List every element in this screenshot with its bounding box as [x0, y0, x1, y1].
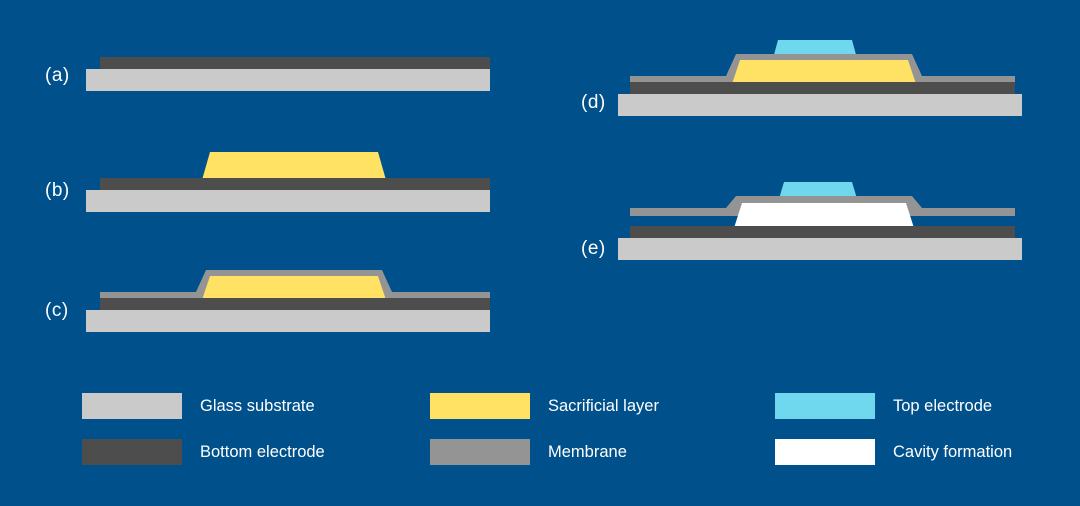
panel-label-c: (c): [45, 300, 69, 322]
panel-c-bottom-electrode: [100, 298, 490, 310]
panel-b-sacrificial-layer: [202, 152, 386, 180]
panel-label-a: (a): [45, 65, 70, 87]
cavity-formation-swatch: [775, 439, 875, 465]
legend-label-sacrificial-layer: Sacrificial layer: [548, 397, 659, 416]
membrane-swatch: [430, 439, 530, 465]
legend-label-bottom-electrode: Bottom electrode: [200, 443, 325, 462]
panel-c-glass-substrate: [86, 310, 490, 332]
legend-label-membrane: Membrane: [548, 443, 627, 462]
legend-item-bottom-electrode: Bottom electrode: [82, 439, 325, 465]
panel-b-glass-substrate: [86, 190, 490, 212]
panel-b-bottom-electrode: [100, 178, 490, 190]
legend-label-glass-substrate: Glass substrate: [200, 397, 315, 416]
panel-a-bottom-electrode: [100, 57, 490, 69]
legend-label-top-electrode: Top electrode: [893, 397, 992, 416]
panel-a: [86, 57, 490, 91]
bottom-electrode-swatch: [82, 439, 182, 465]
fabrication-process-diagram: [0, 0, 1080, 506]
panel-d-bottom-electrode: [630, 82, 1015, 94]
top-electrode-swatch: [775, 393, 875, 419]
panel-e-glass-substrate: [618, 238, 1022, 260]
legend-item-sacrificial-layer: Sacrificial layer: [430, 393, 659, 419]
panel-d-sacrificial-layer: [732, 60, 916, 84]
panel-label-b: (b): [45, 180, 70, 202]
panel-a-glass-substrate: [86, 69, 490, 91]
legend-item-glass-substrate: Glass substrate: [82, 393, 315, 419]
legend-item-cavity-formation: Cavity formation: [775, 439, 1012, 465]
legend-item-top-electrode: Top electrode: [775, 393, 992, 419]
glass-substrate-swatch: [82, 393, 182, 419]
sacrificial-layer-swatch: [430, 393, 530, 419]
panel-e-cavity-formation: [734, 203, 914, 228]
panel-label-d: (d): [581, 92, 606, 114]
panel-d-glass-substrate: [618, 94, 1022, 116]
panel-c-sacrificial-layer: [202, 276, 386, 300]
panel-e-bottom-electrode: [630, 226, 1015, 238]
panel-label-e: (e): [581, 238, 606, 260]
legend-item-membrane: Membrane: [430, 439, 627, 465]
legend-label-cavity-formation: Cavity formation: [893, 443, 1012, 462]
